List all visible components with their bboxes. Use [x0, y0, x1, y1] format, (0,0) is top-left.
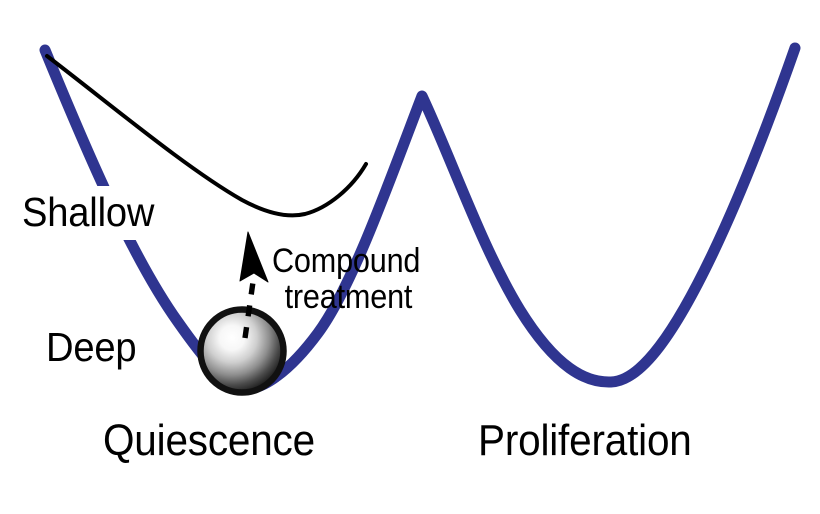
compound-treatment-line-1: Compound: [272, 242, 420, 280]
compound-treatment-label: Compound treatment: [272, 243, 420, 315]
ball-sphere: [201, 310, 284, 393]
deep-label: Deep: [46, 327, 136, 369]
cell-state-ball: [201, 310, 284, 393]
compound-treatment-line-2: treatment: [272, 279, 420, 315]
proliferation-axis-label: Proliferation: [478, 419, 692, 464]
shallow-label: Shallow: [22, 192, 154, 234]
quiescence-axis-label: Quiescence: [103, 419, 315, 464]
arrow-head-icon: [240, 232, 268, 282]
energy-landscape-figure: Shallow Deep Compound treatment Quiescen…: [0, 0, 820, 514]
